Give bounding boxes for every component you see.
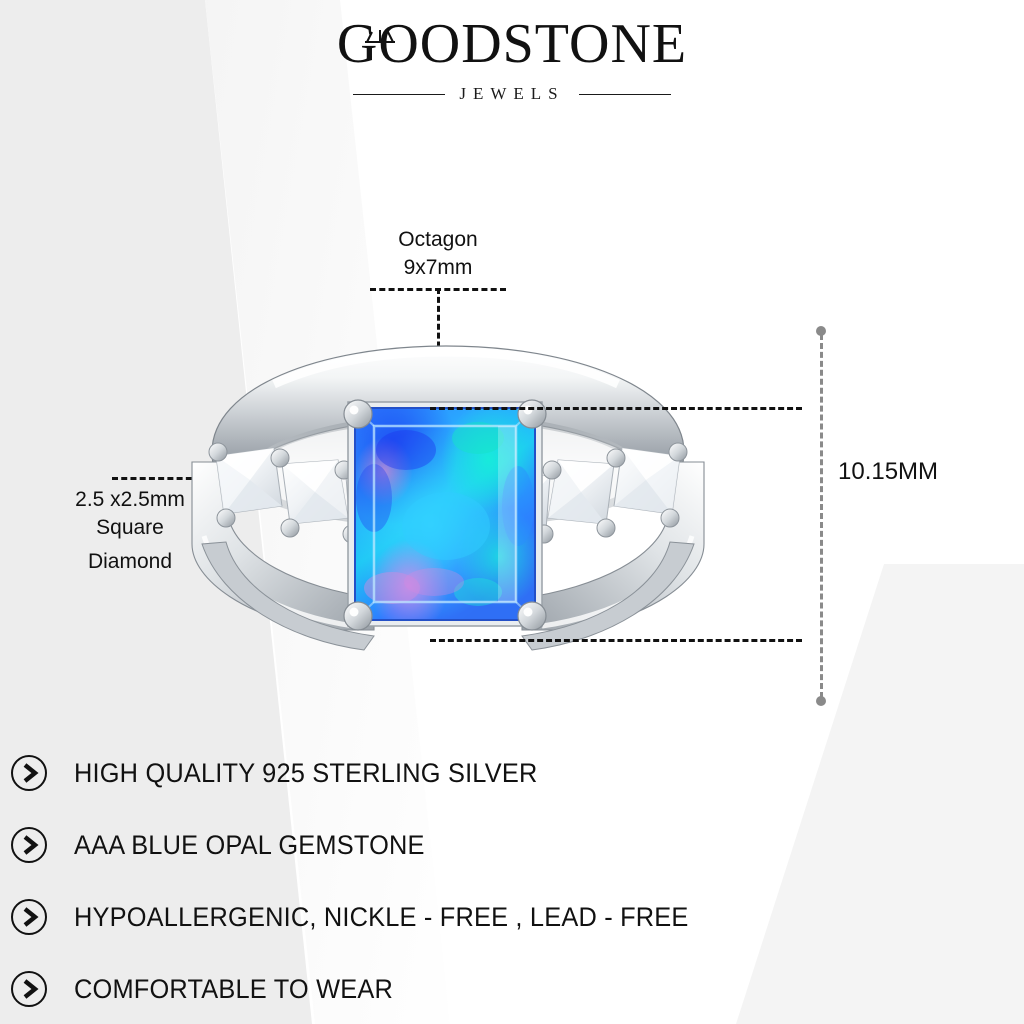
divider-left (353, 94, 445, 95)
chevron-right-circle-icon (10, 970, 48, 1008)
product-image-ring (178, 330, 718, 670)
brand-subtitle-text: JEWELS (459, 84, 564, 104)
divider-right (579, 94, 671, 95)
feature-list: HIGH QUALITY 925 STERLING SILVER AAA BLU… (0, 742, 1024, 1024)
dimension-line-height (818, 326, 824, 706)
leader-line-stone-bottom (430, 639, 802, 642)
chevron-right-circle-icon (10, 754, 48, 792)
feature-label: COMFORTABLE TO WEAR (74, 974, 393, 1005)
dimension-stem (820, 334, 823, 698)
dimension-endpoint-bottom (816, 696, 826, 706)
leader-line-stone-top (430, 407, 802, 410)
chevron-right-circle-icon (10, 898, 48, 936)
brand-subtitle-row: JEWELS (0, 84, 1024, 104)
feature-label: AAA BLUE OPAL GEMSTONE (74, 830, 425, 861)
feature-item: AAA BLUE OPAL GEMSTONE (0, 814, 1024, 876)
feature-label: HYPOALLERGENIC, NICKLE - FREE , LEAD - F… (74, 902, 689, 933)
infographic-canvas: GOODSTONE JEWELS Octagon 9x7mm 2.5 x2.5m… (0, 0, 1024, 1024)
feature-label: HIGH QUALITY 925 STERLING SILVER (74, 758, 537, 789)
annotation-center-stone-line2: 9x7mm (338, 254, 538, 282)
ring-illustration (178, 330, 718, 670)
annotation-center-stone: Octagon 9x7mm (338, 226, 538, 282)
annotation-center-stone-line1: Octagon (338, 226, 538, 254)
feature-item: HYPOALLERGENIC, NICKLE - FREE , LEAD - F… (0, 886, 1024, 948)
feature-item: COMFORTABLE TO WEAR (0, 958, 1024, 1020)
brand-name-wordmark: GOODSTONE (337, 14, 687, 74)
center-stone-opal (355, 408, 535, 620)
brand-logo: GOODSTONE JEWELS (0, 14, 1024, 104)
feature-item: HIGH QUALITY 925 STERLING SILVER (0, 742, 1024, 804)
chevron-right-circle-icon (10, 826, 48, 864)
annotation-height: 10.15MM (838, 458, 1018, 486)
crown-icon (363, 0, 397, 16)
